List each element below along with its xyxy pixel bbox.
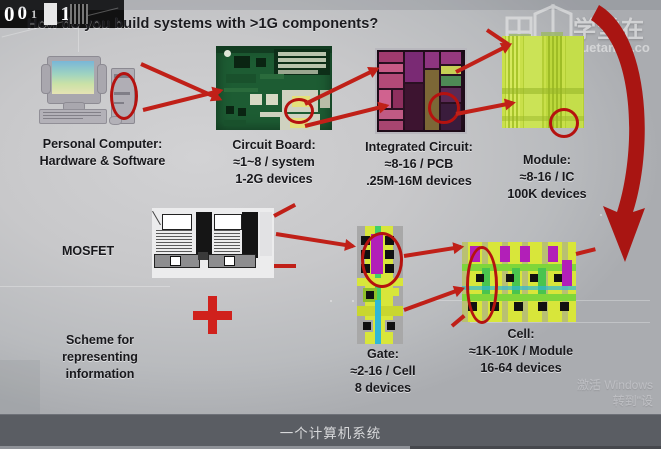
arrow-tick <box>273 203 296 218</box>
arrow-mosfet-to-gate <box>276 232 354 248</box>
backdrop-dot <box>352 300 354 302</box>
highlight-ellipse-die <box>428 92 460 124</box>
caption-integrated-circuit: Integrated Circuit: ≈8-16 / PCB .25M-16M… <box>337 139 501 190</box>
backdrop-dot <box>330 300 332 302</box>
backdrop-shade <box>0 360 40 420</box>
backdrop-trace <box>0 286 170 287</box>
highlight-ellipse-gate <box>361 232 403 288</box>
highlight-ellipse-cell <box>466 246 498 324</box>
activation-line1: 激活 Windows <box>577 377 653 393</box>
caption-scheme: Scheme for representing information <box>40 332 160 383</box>
player-bottom-bar[interactable]: 一个计算机系统 <box>0 414 661 449</box>
caption-circuit-board: Circuit Board: ≈1~8 / system 1-2G device… <box>196 137 352 188</box>
arrow-tick <box>274 264 296 268</box>
image-circuit-board <box>216 46 332 130</box>
slide-canvas: How do you build systems with >1G compon… <box>0 0 661 449</box>
plus-sign-horizontal <box>193 311 232 320</box>
player-caption: 一个计算机系统 <box>0 422 661 442</box>
caption-gate: Gate: ≈2-16 / Cell 8 devices <box>333 346 433 397</box>
arrow-gate-to-cell <box>403 287 463 312</box>
highlight-ellipse-pc <box>110 72 138 120</box>
caption-mosfet: MOSFET <box>62 243 156 260</box>
caption-personal-computer: Personal Computer: Hardware & Software <box>10 136 195 170</box>
windows-activation-watermark: 激活 Windows 转到"设 <box>577 377 653 409</box>
arrow-gate-to-cell <box>404 245 462 258</box>
caption-cell: Cell: ≈1K-10K / Module 16-64 devices <box>447 326 595 377</box>
image-mosfet-cross-section <box>152 208 274 278</box>
backdrop-trace <box>470 322 650 323</box>
activation-line2: 转到"设 <box>577 393 653 409</box>
